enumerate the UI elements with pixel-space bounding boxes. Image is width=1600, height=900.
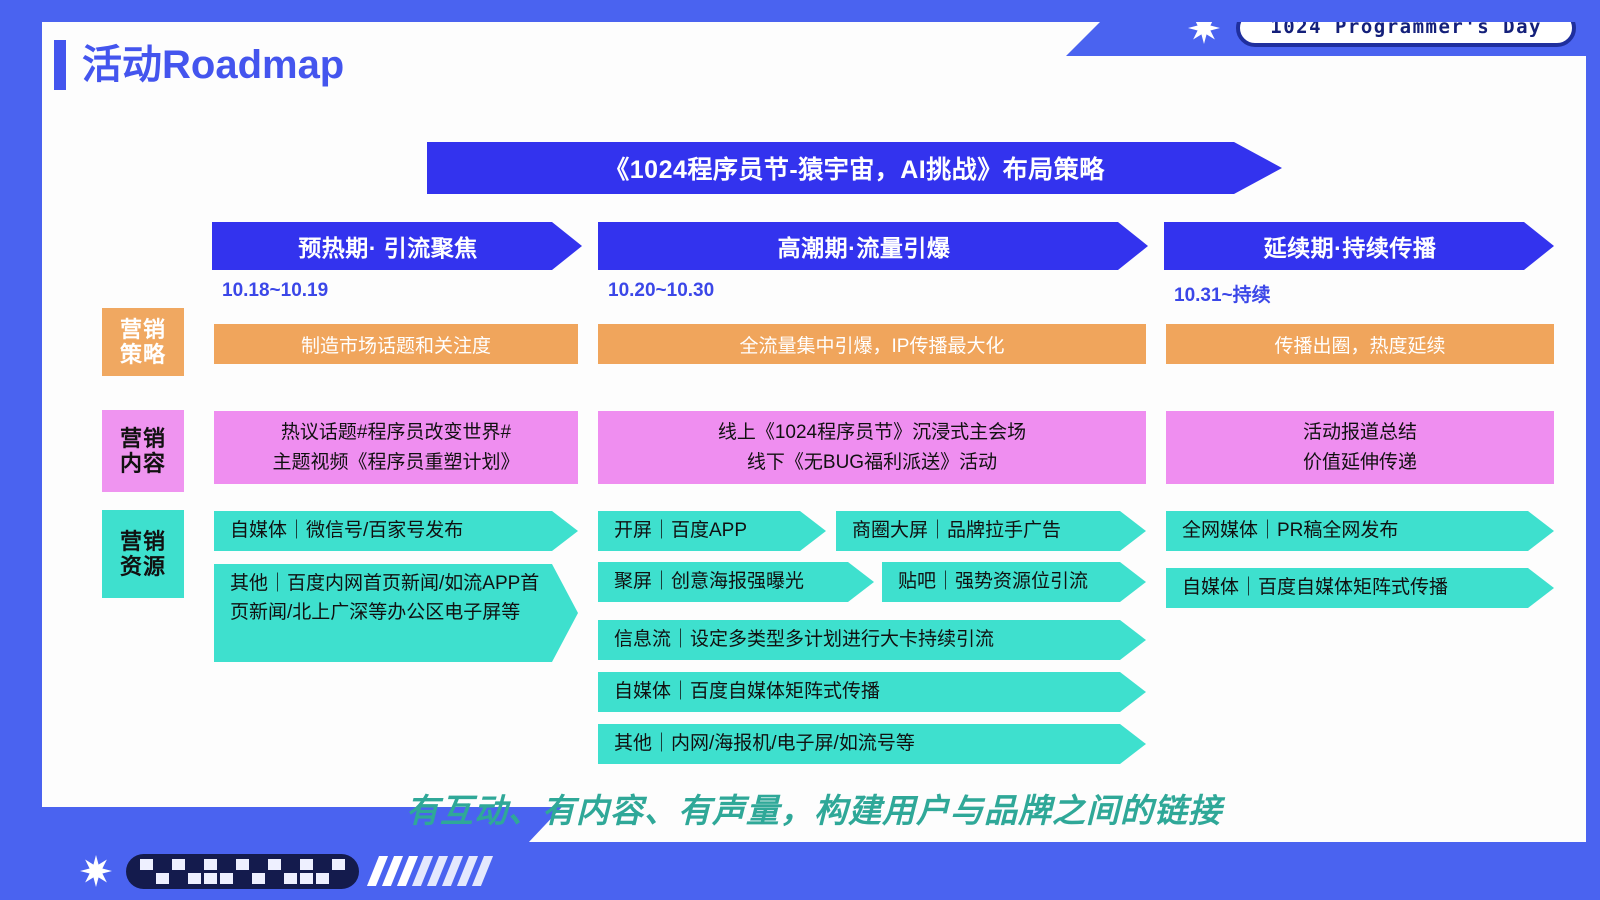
- strategy-text-2: 全流量集中引爆，IP传播最大化: [740, 331, 1005, 358]
- phase-header-1: 预热期· 引流聚焦: [212, 222, 582, 270]
- badge-zone: 1024 Programmer's Day: [1080, 22, 1586, 56]
- phase-date-1: 10.18~10.19: [212, 280, 582, 302]
- resource-chip-c3-1: 全网媒体｜PR稿全网发布: [1166, 511, 1554, 551]
- phase-date-3: 10.31~持续: [1164, 280, 1554, 307]
- content-cell-3: 活动报道总结 价值延伸传递: [1166, 411, 1554, 484]
- strategy-cell-1: 制造市场话题和关注度: [214, 324, 578, 364]
- resource-text-c1-2: 其他｜百度内网首页新闻/如流APP首页新闻/北上广深等办公区电子屏等: [230, 573, 539, 623]
- strategy-text-1: 制造市场话题和关注度: [301, 331, 491, 358]
- resource-text-c2-2: 商圈大屏｜品牌拉手广告: [852, 517, 1061, 546]
- row-label-content-line1: 营销: [120, 426, 166, 451]
- resource-chip-c2-7: 其他｜内网/海报机/电子屏/如流号等: [598, 724, 1146, 764]
- resource-chip-c2-4: 贴吧｜强势资源位引流: [882, 562, 1146, 602]
- resource-text-c3-2: 自媒体｜百度自媒体矩阵式传播: [1182, 574, 1448, 603]
- phase-name-2: 高潮期·流量引爆: [778, 229, 969, 263]
- phase-name-3: 延续期·持续传播: [1264, 229, 1455, 263]
- phase-column-2: 高潮期·流量引爆 10.20~10.30: [598, 222, 1148, 302]
- row-label-content: 营销 内容: [102, 410, 184, 492]
- row-label-resource-line2: 资源: [120, 554, 166, 579]
- resource-chip-c3-2: 自媒体｜百度自媒体矩阵式传播: [1166, 568, 1554, 608]
- resource-text-c2-4: 贴吧｜强势资源位引流: [898, 568, 1088, 597]
- row-label-strategy: 营销 策略: [102, 308, 184, 376]
- phase-name-1: 预热期· 引流聚焦: [298, 229, 496, 263]
- phase-header-2: 高潮期·流量引爆: [598, 222, 1148, 270]
- content-cell-2: 线上《1024程序员节》沉浸式主会场 线下《无BUG福利派送》活动: [598, 411, 1146, 484]
- strategy-cell-3: 传播出圈，热度延续: [1166, 324, 1554, 364]
- content-text-2-line1: 线上《1024程序员节》沉浸式主会场: [718, 418, 1026, 447]
- row-label-strategy-line2: 策略: [120, 342, 166, 367]
- title-accent-bar: [54, 40, 66, 90]
- content-text-2-line2: 线下《无BUG福利派送》活动: [747, 448, 997, 477]
- content-text-3-line2: 价值延伸传递: [1303, 448, 1417, 477]
- strategy-cell-2: 全流量集中引爆，IP传播最大化: [598, 324, 1146, 364]
- phase-column-3: 延续期·持续传播 10.31~持续: [1164, 222, 1554, 307]
- row-label-resource-line1: 营销: [120, 529, 166, 554]
- phase-column-1: 预热期· 引流聚焦 10.18~10.19: [212, 222, 582, 302]
- resource-chip-c2-6: 自媒体｜百度自媒体矩阵式传播: [598, 672, 1146, 712]
- resource-text-c2-6: 自媒体｜百度自媒体矩阵式传播: [614, 678, 880, 707]
- diagonal-stripes-icon: [367, 856, 493, 886]
- page-title: 活动Roadmap: [82, 45, 344, 85]
- starburst-icon-footer: [80, 855, 112, 887]
- master-strategy-label: 《1024程序员节-猿宇宙，AI挑战》布局策略: [604, 150, 1104, 186]
- phase-header-3: 延续期·持续传播: [1164, 222, 1554, 270]
- resource-chip-c2-2: 商圈大屏｜品牌拉手广告: [836, 511, 1146, 551]
- programmers-day-badge: 1024 Programmer's Day: [1236, 22, 1576, 47]
- resource-text-c2-7: 其他｜内网/海报机/电子屏/如流号等: [614, 730, 915, 759]
- row-label-content-line2: 内容: [120, 451, 166, 476]
- resource-text-c2-5: 信息流｜设定多类型多计划进行大卡持续引流: [614, 626, 994, 655]
- resource-chip-c2-5: 信息流｜设定多类型多计划进行大卡持续引流: [598, 620, 1146, 660]
- resource-text-c2-3: 聚屏｜创意海报强曝光: [614, 568, 804, 597]
- row-label-resource: 营销 资源: [102, 510, 184, 598]
- tagline: 有互动、有内容、有声量，构建用户与品牌之间的链接: [42, 784, 1586, 832]
- slide-stage: 活动Roadmap 1024 Programmer's Day 《1024程序员…: [42, 22, 1586, 842]
- row-label-strategy-line1: 营销: [120, 317, 166, 342]
- resource-text-c2-1: 开屏｜百度APP: [614, 517, 747, 546]
- starburst-icon: [1188, 22, 1220, 44]
- master-strategy-arrow: 《1024程序员节-猿宇宙，AI挑战》布局策略: [427, 137, 1282, 199]
- resource-text-c3-1: 全网媒体｜PR稿全网发布: [1182, 517, 1398, 546]
- content-text-1-line1: 热议话题#程序员改变世界#: [281, 418, 511, 447]
- resource-chip-c2-3: 聚屏｜创意海报强曝光: [598, 562, 874, 602]
- phase-date-2: 10.20~10.30: [598, 280, 1148, 302]
- checker-pill-icon: [126, 854, 359, 889]
- footer-decoration: [80, 850, 487, 892]
- content-text-3-line1: 活动报道总结: [1303, 418, 1417, 447]
- content-cell-1: 热议话题#程序员改变世界# 主题视频《程序员重塑计划》: [214, 411, 578, 484]
- outer-frame: 活动Roadmap 1024 Programmer's Day 《1024程序员…: [0, 0, 1600, 900]
- resource-chip-c1-2: 其他｜百度内网首页新闻/如流APP首页新闻/北上广深等办公区电子屏等: [214, 564, 578, 662]
- resource-chip-c1-1: 自媒体｜微信号/百家号发布: [214, 511, 578, 551]
- content-text-1-line2: 主题视频《程序员重塑计划》: [272, 448, 519, 477]
- strategy-text-3: 传播出圈，热度延续: [1274, 331, 1445, 358]
- page-header: 活动Roadmap: [54, 40, 344, 90]
- resource-chip-c2-1: 开屏｜百度APP: [598, 511, 826, 551]
- resource-text-c1-1: 自媒体｜微信号/百家号发布: [230, 517, 463, 546]
